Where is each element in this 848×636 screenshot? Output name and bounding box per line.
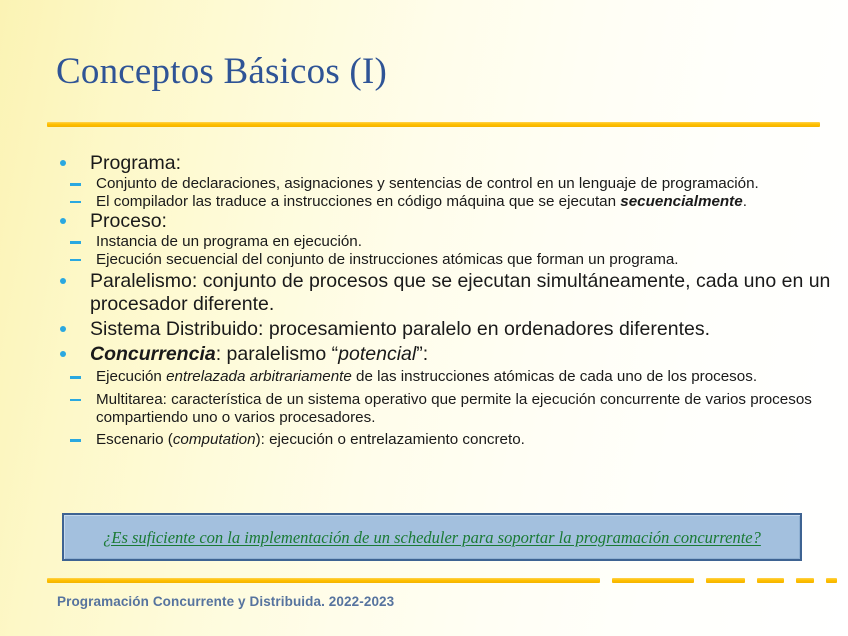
bullet-text-mid: : paralelismo “ (216, 343, 338, 365)
bullet-label: Proceso: (90, 210, 167, 232)
sub-bullet-item: Ejecución entrelazada arbitrariamente de… (52, 368, 842, 386)
bullet-emphasis: Concurrencia (90, 343, 216, 365)
sub-bullet-text-post: ): ejecución o entrelazamiento concreto. (256, 431, 525, 448)
sub-bullet-text-post: de las instrucciones atómicas de cada un… (352, 368, 757, 385)
bullet-emphasis-2: potencial (338, 343, 416, 365)
rule-segment (47, 578, 600, 583)
sub-bullets-programa: Conjunto de declaraciones, asignaciones … (52, 175, 842, 210)
bullet-proceso: Proceso: (52, 210, 842, 233)
sub-bullet-item: Instancia de un programa en ejecución. (52, 233, 842, 251)
bullet-label: Sistema Distribuido: procesamiento paral… (90, 318, 710, 340)
bullet-dash-icon (70, 241, 81, 244)
sub-bullet-item: Conjunto de declaraciones, asignaciones … (52, 175, 842, 193)
bullet-concurrencia: Concurrencia: paralelismo “potencial”: (52, 343, 842, 366)
slide-footer: Programación Concurrente y Distribuida. … (57, 594, 394, 609)
sub-bullet-label: Conjunto de declaraciones, asignaciones … (96, 175, 759, 192)
rule-segment (826, 578, 837, 583)
bullet-dot-icon (60, 218, 66, 224)
sub-bullet-text-pre: Escenario ( (96, 431, 173, 448)
sub-bullet-label: Escenario (computation): ejecución o ent… (96, 431, 525, 448)
bullet-paralelismo: Paralelismo: conjunto de procesos que se… (52, 270, 842, 316)
footer-divider-rule (47, 578, 802, 583)
sub-bullet-emphasis: computation (173, 431, 256, 448)
sub-bullet-item: Escenario (computation): ejecución o ent… (52, 431, 842, 449)
bullet-dot-icon (60, 160, 66, 166)
bullet-dot-icon (60, 326, 66, 332)
sub-bullet-label: Ejecución secuencial del conjunto de ins… (96, 251, 679, 268)
bullet-dash-icon (70, 439, 81, 442)
rule-segment (796, 578, 814, 583)
sub-bullet-item: Ejecución secuencial del conjunto de ins… (52, 251, 842, 269)
sub-bullet-label: El compilador las traduce a instruccione… (96, 193, 747, 210)
question-callout-text: ¿Es suficiente con la implementación de … (81, 527, 783, 548)
bullet-dash-icon (70, 399, 81, 402)
sub-bullets-proceso: Instancia de un programa en ejecución. E… (52, 233, 842, 268)
bullet-sistema-distribuido: Sistema Distribuido: procesamiento paral… (52, 318, 842, 341)
slide-body: Programa: Conjunto de declaraciones, asi… (52, 152, 842, 449)
sub-bullet-emphasis: secuencialmente (620, 193, 742, 210)
bullet-label: Concurrencia: paralelismo “potencial”: (90, 343, 428, 365)
sub-bullet-label: Ejecución entrelazada arbitrariamente de… (96, 368, 757, 385)
page-title: Conceptos Básicos (I) (56, 50, 796, 94)
sub-bullet-item: El compilador las traduce a instruccione… (52, 193, 842, 211)
bullet-dash-icon (70, 183, 81, 186)
question-callout-box: ¿Es suficiente con la implementación de … (62, 513, 802, 561)
bullet-dot-icon (60, 351, 66, 357)
bullet-label: Programa: (90, 152, 181, 174)
bullet-dash-icon (70, 376, 81, 379)
sub-bullet-label: Instancia de un programa en ejecución. (96, 233, 362, 250)
sub-bullet-text-pre: Ejecución (96, 368, 166, 385)
bullet-label: Paralelismo: conjunto de procesos que se… (90, 270, 830, 315)
sub-bullet-text-post: . (743, 193, 747, 210)
bullet-dash-icon (70, 201, 81, 204)
rule-segment (757, 578, 784, 583)
slide-canvas: Conceptos Básicos (I) Programa: Conjunto… (0, 0, 848, 636)
sub-bullet-label: Multitarea: característica de un sistema… (96, 391, 812, 426)
sub-bullets-concurrencia: Ejecución entrelazada arbitrariamente de… (52, 368, 842, 448)
bullet-dash-icon (70, 259, 81, 262)
sub-bullet-item: Multitarea: característica de un sistema… (52, 391, 842, 426)
bullet-text-post: ”: (416, 343, 428, 365)
rule-segment (706, 578, 745, 583)
sub-bullet-text-pre: El compilador las traduce a instruccione… (96, 193, 620, 210)
sub-bullet-emphasis: entrelazada arbitrariamente (166, 368, 352, 385)
rule-segment (612, 578, 694, 583)
bullet-programa: Programa: (52, 152, 842, 175)
title-divider-rule (47, 122, 820, 127)
bullet-dot-icon (60, 278, 66, 284)
